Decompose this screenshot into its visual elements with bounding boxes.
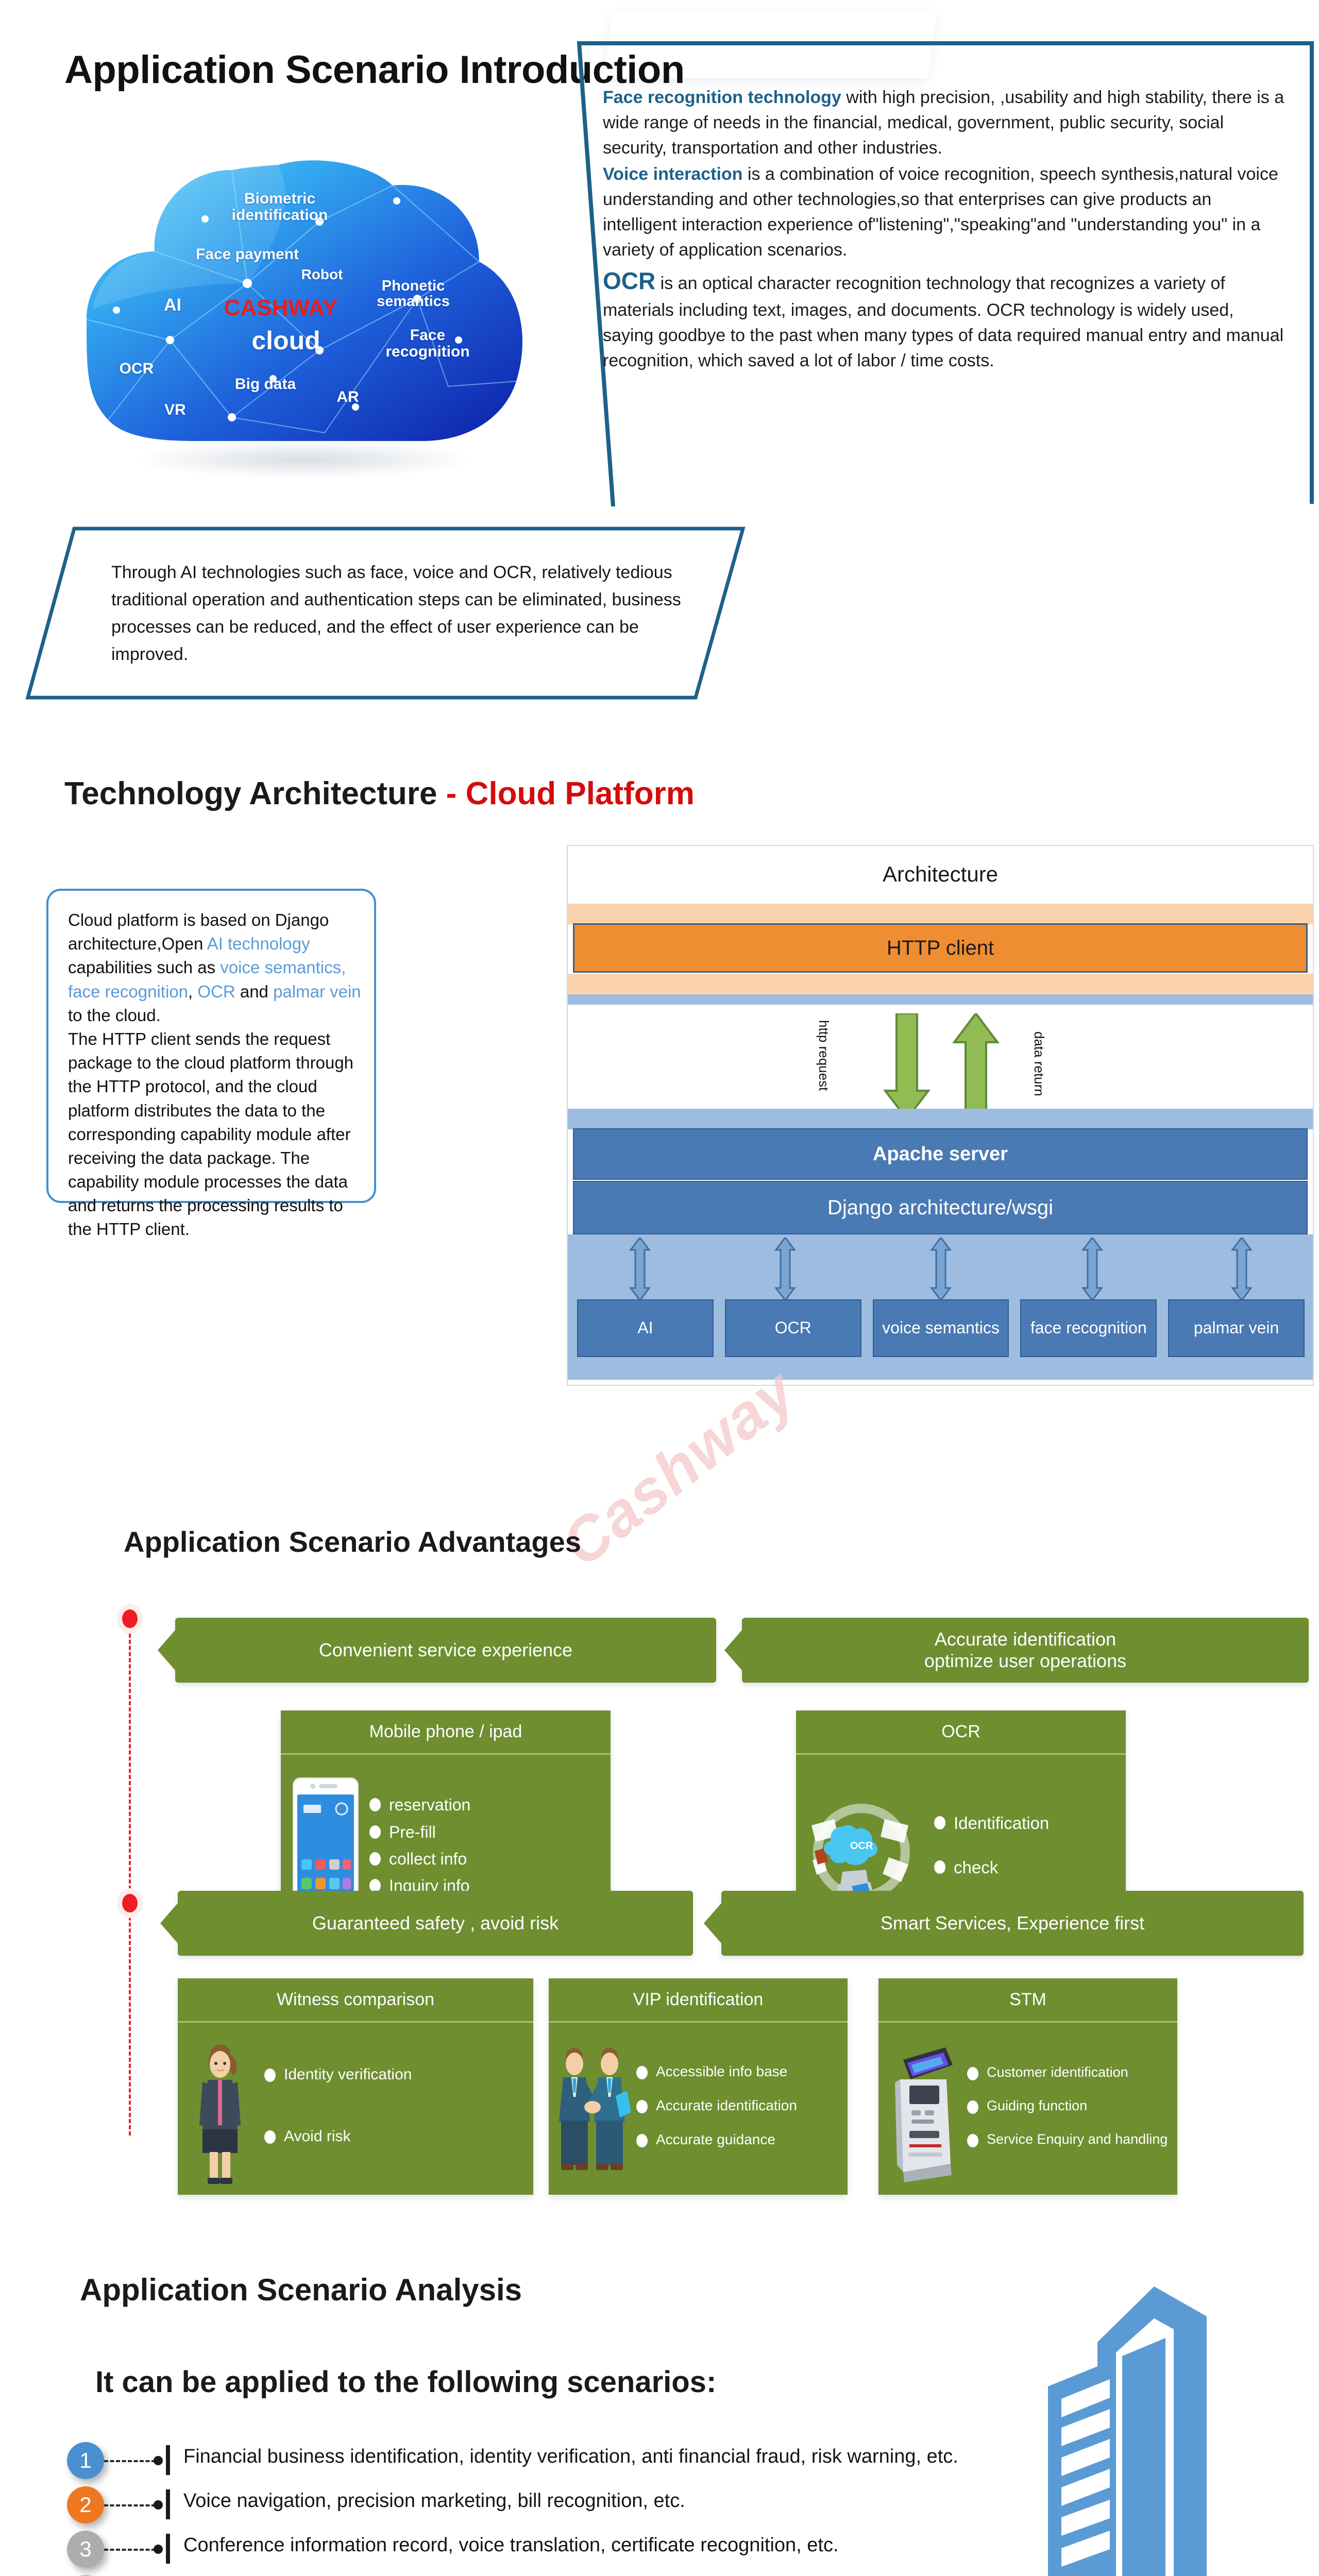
list-item: Accurate guidance — [636, 2131, 841, 2148]
capability-modules-row: AI OCR voice semantics face recognition … — [577, 1299, 1305, 1357]
analysis-subtitle: It can be applied to the following scena… — [95, 2365, 716, 2399]
arrow-label-http-request: http request — [817, 1020, 831, 1091]
list-item: reservation — [369, 1795, 604, 1814]
arch-desc-p1i: to the cloud. — [68, 1006, 161, 1025]
card-item-text: Accessible info base — [656, 2063, 787, 2080]
card-title-stm: STM — [878, 1978, 1177, 2023]
module-voice-semantics[interactable]: voice semantics — [873, 1299, 1009, 1357]
apache-server-bar: Apache server — [573, 1128, 1308, 1180]
architecture-title: Technology Architecture - Cloud Platform — [64, 775, 695, 812]
architecture-description-box: Cloud platform is based on Django archit… — [46, 889, 376, 1203]
card-item-text: Customer identification — [987, 2064, 1128, 2080]
bullet-icon — [967, 2100, 978, 2114]
list-item: Identification — [934, 1814, 1120, 1833]
intro-lead-ocr: OCR — [603, 267, 655, 294]
list-item: Pre-fill — [369, 1823, 604, 1841]
analysis-item-text: Financial business identification, ident… — [183, 2442, 1226, 2469]
list-item: 3 Conference information record, voice t… — [67, 2531, 1226, 2568]
arch-desc-p1g: and — [235, 982, 273, 1001]
architecture-panel-header: Architecture — [568, 846, 1313, 903]
advantages-title: Application Scenario Advantages — [124, 1525, 581, 1558]
bullet-icon — [934, 1816, 945, 1829]
bullet-icon — [636, 2066, 648, 2079]
timeline-node-1 — [117, 1604, 143, 1634]
bullet-icon — [264, 2069, 276, 2082]
bullet-icon — [967, 2067, 978, 2080]
arrow-label-data-return: data return — [1033, 1031, 1046, 1096]
card-item-text: Identification — [954, 1814, 1049, 1833]
card-list-vip: Accessible info base Accurate identifica… — [632, 2063, 841, 2156]
card-item-text: Accurate identification — [656, 2097, 797, 2114]
list-item: Accurate identification — [636, 2097, 841, 2114]
module-face-recognition[interactable]: face recognition — [1020, 1299, 1157, 1357]
arch-desc-p2: The HTTP client sends the request packag… — [68, 1029, 353, 1239]
arch-desc-p1e: , — [188, 982, 197, 1001]
list-item: collect info — [369, 1850, 604, 1868]
intro-lead-voice: Voice interaction — [603, 164, 742, 184]
bullet-icon — [636, 2134, 648, 2147]
arch-desc-link-palmar: palmar vein — [273, 982, 361, 1001]
dashed-connector — [104, 2486, 166, 2523]
svg-text:OCR: OCR — [850, 1840, 873, 1852]
timeline-dashed-line — [129, 1615, 131, 2136]
band-blue-above-apache — [568, 1109, 1313, 1129]
arch-desc-link-ocr: OCR — [197, 982, 235, 1001]
arch-desc-link-ai: AI technology — [207, 934, 310, 953]
band-light-bottom — [568, 974, 1313, 994]
item-bar-marker — [166, 2489, 170, 2519]
intro-callout-parallelogram: Through AI technologies such as face, vo… — [25, 526, 746, 701]
advantages-section: Application Scenario Advantages Convenie… — [0, 1525, 1319, 2210]
intro-paragraph-voice: Voice interaction is a combination of vo… — [603, 162, 1288, 263]
card-list-ocr: Identification check — [921, 1814, 1120, 1885]
module-connector-arrows — [577, 1238, 1305, 1300]
handshake-icon — [555, 2035, 632, 2184]
intro-callout-text: Through AI technologies such as face, vo… — [111, 559, 683, 668]
analysis-item-text: Voice navigation, precision marketing, b… — [183, 2486, 1226, 2514]
architecture-diagram-panel: Architecture HTTP client http request da… — [567, 845, 1314, 1386]
module-palmar-vein[interactable]: palmar vein — [1168, 1299, 1305, 1357]
architecture-description-text: Cloud platform is based on Django archit… — [68, 908, 364, 1242]
intro-lead-face: Face recognition technology — [603, 88, 841, 107]
card-item-text: check — [954, 1858, 998, 1877]
cashway-cloud-graphic: Biometric identification Face payment Ro… — [77, 129, 551, 489]
card-item-text: Service Enquiry and handling — [987, 2131, 1168, 2147]
module-ocr[interactable]: OCR — [725, 1299, 861, 1357]
list-item: 1 Financial business identification, ide… — [67, 2442, 1226, 2479]
card-list-witness: Identity verification Avoid risk — [256, 2066, 527, 2154]
item-bar-marker — [166, 2445, 170, 2475]
module-ai[interactable]: AI — [577, 1299, 714, 1357]
card-item-text: reservation — [389, 1795, 470, 1814]
intro-body-ocr: is an optical character recognition tech… — [603, 274, 1283, 370]
advantage-card-stm: STM C — [878, 1978, 1177, 2195]
architecture-title-accent: Cloud Platform — [466, 776, 695, 811]
list-item: Guiding function — [967, 2098, 1171, 2114]
band-light-top — [568, 904, 1313, 924]
django-architecture-bar: Django architecture/wsgi — [573, 1181, 1308, 1234]
bullet-icon — [369, 1798, 381, 1811]
band-blue-thin — [568, 994, 1313, 1005]
architecture-title-main: Technology Architecture — [64, 776, 437, 811]
intro-section: Application Scenario Introduction — [0, 0, 1319, 536]
bullet-icon — [967, 2134, 978, 2147]
intro-paragraph-block: Face recognition technology with high pr… — [603, 85, 1288, 375]
intro-paragraph-ocr: OCR is an optical character recognition … — [603, 264, 1288, 374]
advantages-timeline — [126, 1615, 133, 2136]
card-list-stm: Customer identification Guiding function… — [962, 2064, 1171, 2156]
analysis-title: Application Scenario Analysis — [80, 2272, 522, 2308]
bullet-icon — [369, 1852, 381, 1866]
list-item: 2 Voice navigation, precision marketing,… — [67, 2486, 1226, 2523]
list-item: check — [934, 1858, 1120, 1877]
card-item-text: Pre-fill — [389, 1823, 436, 1841]
ocr-cloud-icon: OCR — [802, 1795, 921, 1904]
dashed-connector — [104, 2442, 166, 2479]
intro-paragraph-face: Face recognition technology with high pr… — [603, 85, 1288, 161]
arch-desc-p1c: capabilities such as — [68, 958, 220, 977]
item-bar-marker — [166, 2534, 170, 2564]
list-item: Accessible info base — [636, 2063, 841, 2080]
bullet-icon — [369, 1825, 381, 1839]
advantage-banner-smart: Smart Services, Experience first — [721, 1891, 1304, 1956]
card-item-text: Identity verification — [284, 2066, 412, 2083]
architecture-section: Technology Architecture - Cloud Platform… — [0, 762, 1319, 1427]
list-item: Avoid risk — [264, 2128, 527, 2145]
dashed-connector — [104, 2531, 166, 2568]
analysis-scenario-list: 1 Financial business identification, ide… — [67, 2442, 1226, 2576]
advantage-banner-safety: Guaranteed safety , avoid risk — [178, 1891, 693, 1956]
list-item: Service Enquiry and handling — [967, 2131, 1171, 2147]
kiosk-icon — [885, 2035, 962, 2184]
analysis-section: Application Scenario Analysis It can be … — [0, 2246, 1319, 2576]
card-item-text: collect info — [389, 1850, 467, 1868]
woman-figure-icon — [184, 2032, 256, 2187]
advantage-card-witness: Witness comparison — [178, 1978, 533, 2195]
architecture-flow-arrows — [856, 1013, 1026, 1122]
card-title-ocr: OCR — [796, 1710, 1126, 1755]
card-title-mobile: Mobile phone / ipad — [281, 1710, 611, 1755]
http-client-bar: HTTP client — [573, 923, 1308, 973]
list-item: Customer identification — [967, 2064, 1171, 2080]
bullet-icon — [934, 1860, 945, 1874]
card-title-vip: VIP identification — [549, 1978, 848, 2023]
bullet-icon — [636, 2100, 648, 2113]
bullet-icon — [264, 2130, 276, 2144]
analysis-number-badge: 2 — [67, 2486, 104, 2523]
advantage-banner-accurate: Accurate identification optimize user op… — [742, 1618, 1309, 1683]
card-item-text: Accurate guidance — [656, 2131, 775, 2148]
analysis-item-text: Conference information record, voice tra… — [183, 2531, 1226, 2558]
analysis-number-badge: 1 — [67, 2442, 104, 2479]
analysis-number-badge: 3 — [67, 2531, 104, 2568]
card-title-witness: Witness comparison — [178, 1978, 533, 2023]
list-item: Identity verification — [264, 2066, 527, 2083]
card-list-mobile: reservation Pre-fill collect info Inquir… — [364, 1795, 604, 1904]
timeline-node-2 — [117, 1888, 143, 1918]
card-item-text: Avoid risk — [284, 2128, 351, 2145]
card-item-text: Guiding function — [987, 2098, 1087, 2114]
advantage-banner-convenient: Convenient service experience — [175, 1618, 716, 1683]
advantage-card-vip: VIP identification — [549, 1978, 848, 2195]
architecture-title-separator: - — [437, 776, 465, 811]
